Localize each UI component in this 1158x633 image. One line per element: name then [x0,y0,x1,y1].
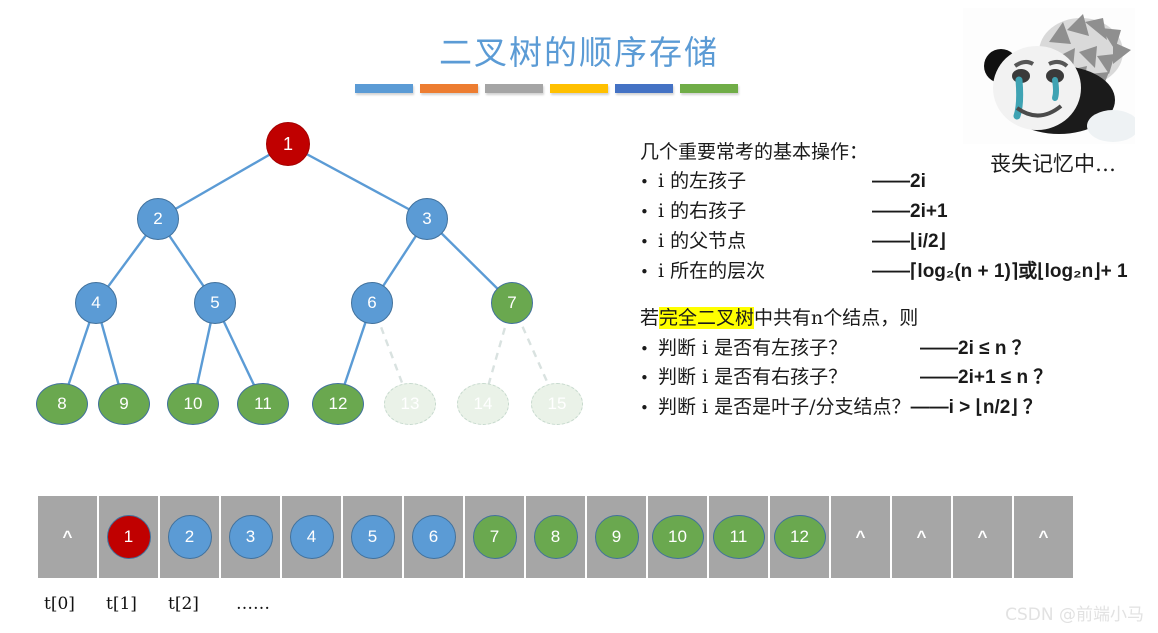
tree-node-10[interactable]: 10 [167,383,219,425]
notes2-heading-highlight: 完全二叉树 [659,307,754,329]
array-cell-5[interactable]: 5 [343,496,402,578]
array-node-circle: 9 [595,515,639,559]
complete-binary-tree-notes: 若完全二叉树中共有n个结点，则 • 判断 i 是否有左孩子？ ——2i ≤ n … [640,304,1156,423]
notes-item-formula: ——2i+1 [872,198,948,227]
bullet-icon: • [640,171,658,194]
meme-caption: 丧失记忆中… [963,148,1143,178]
sequential-storage-array: ^ 1 2 3 4 5 6 7 8 9 10 11 12 ^ ^ ^ ^ [38,496,1073,578]
array-node-circle: 8 [534,515,578,559]
bullet-icon: • [640,367,658,390]
array-cell-9[interactable]: 9 [587,496,646,578]
notes2-item-has-right-child: • 判断 i 是否有右孩子？ ——2i+1 ≤ n ？ [640,363,1156,393]
tree-node-label: 6 [367,293,376,313]
notes2-item-has-left-child: • 判断 i 是否有左孩子？ ——2i ≤ n ？ [640,334,1156,364]
bullet-icon: • [640,201,658,224]
binary-tree-diagram: 1 2 3 4 5 6 7 8 9 10 11 12 13 14 15 [0,0,620,450]
array-node-circle: 1 [107,515,151,559]
tree-node-label: 7 [507,293,516,313]
array-node-circle: 4 [290,515,334,559]
tree-node-label: 14 [474,394,493,414]
tree-node-label: 15 [548,394,567,414]
tree-node-12[interactable]: 12 [312,383,364,425]
bullet-icon: • [640,261,658,284]
tree-node-1[interactable]: 1 [266,122,310,166]
slide-canvas: 二叉树的顺序存储 1 2 [0,0,1158,633]
array-cell-2[interactable]: 2 [160,496,219,578]
array-cell-12[interactable]: 12 [770,496,829,578]
tree-node-label: 3 [422,209,431,229]
notes-item-formula: ——⌊i/2⌋ [872,228,946,257]
notes-item-formula: ——⌈log₂(n + 1)⌉或⌊log₂n⌋+ 1 [872,258,1128,287]
notes2-heading-suffix: 中共有n个结点，则 [754,307,918,329]
notes-bullet-list: • i 的左孩子 ——2i • i 的右孩子 ——2i+1 • i 的父节点 —… [640,167,1150,287]
array-cell-0[interactable]: ^ [38,496,97,578]
notes-item-level: • i 所在的层次 ——⌈log₂(n + 1)⌉或⌊log₂n⌋+ 1 [640,257,1150,287]
array-node-circle: 10 [652,515,704,559]
crying-panda-head-meme-icon [963,8,1135,144]
bullet-icon: • [640,397,658,420]
tree-node-11[interactable]: 11 [237,383,289,425]
notes2-item-formula: ——2i ≤ n ？ [920,334,1031,364]
array-cell-8[interactable]: 8 [526,496,585,578]
tree-node-13[interactable]: 13 [384,383,436,425]
array-cell-7[interactable]: 7 [465,496,524,578]
tree-node-14[interactable]: 14 [457,383,509,425]
title-accent-bar-6 [680,84,738,93]
tree-node-5[interactable]: 5 [194,282,236,324]
notes-item-text: i 的左孩子 [658,167,872,196]
array-cell-15[interactable]: ^ [953,496,1012,578]
array-empty-caret: ^ [856,527,866,547]
tree-node-3[interactable]: 3 [406,198,448,240]
notes2-item-text: 判断 i 是否有右孩子？ [658,363,920,393]
tree-node-label: 8 [57,394,66,414]
array-index-label-2: t[2] [168,594,236,614]
title-accent-bar-5 [615,84,673,93]
array-empty-caret: ^ [1039,527,1049,547]
notes2-heading: 若完全二叉树中共有n个结点，则 [640,304,1156,334]
array-index-label-ellipsis: …… [236,594,270,614]
notes-item-text: i 所在的层次 [658,257,872,286]
notes-item-right-child: • i 的右孩子 ——2i+1 [640,197,1150,227]
notes2-bullet-list: • 判断 i 是否有左孩子？ ——2i ≤ n ？ • 判断 i 是否有右孩子？… [640,334,1156,423]
array-node-circle: 6 [412,515,456,559]
tree-node-15[interactable]: 15 [531,383,583,425]
tree-node-7[interactable]: 7 [491,282,533,324]
tree-node-6[interactable]: 6 [351,282,393,324]
array-cell-16[interactable]: ^ [1014,496,1073,578]
tree-node-8[interactable]: 8 [36,383,88,425]
tree-node-9[interactable]: 9 [98,383,150,425]
array-cell-14[interactable]: ^ [892,496,951,578]
tree-node-label: 13 [401,394,420,414]
tree-node-label: 5 [210,293,219,313]
notes2-item-is-leaf: • 判断 i 是否是叶子/分支结点？ ——i > ⌊n/2⌋ ？ [640,393,1156,423]
tree-node-label: 4 [91,293,100,313]
tree-edges [0,0,620,450]
bullet-icon: • [640,231,658,254]
array-index-labels: t[0] t[1] t[2] …… [44,594,270,614]
notes-item-text: i 的右孩子 [658,197,872,226]
tree-node-2[interactable]: 2 [137,198,179,240]
tree-node-label: 9 [119,394,128,414]
array-cell-13[interactable]: ^ [831,496,890,578]
bullet-icon: • [640,338,658,361]
tree-node-4[interactable]: 4 [75,282,117,324]
array-node-circle: 7 [473,515,517,559]
notes2-item-text: 判断 i 是否是叶子/分支结点？ [658,393,911,423]
tree-node-label: 1 [283,134,293,155]
tree-node-label: 10 [184,394,203,414]
array-cell-6[interactable]: 6 [404,496,463,578]
array-empty-caret: ^ [63,527,73,547]
array-cell-1[interactable]: 1 [99,496,158,578]
array-index-label-1: t[1] [106,594,168,614]
array-node-circle: 2 [168,515,212,559]
array-cell-3[interactable]: 3 [221,496,280,578]
array-empty-caret: ^ [978,527,988,547]
array-cell-10[interactable]: 10 [648,496,707,578]
array-cell-11[interactable]: 11 [709,496,768,578]
array-node-circle: 5 [351,515,395,559]
notes2-item-formula: ——2i+1 ≤ n ？ [920,363,1052,393]
tree-node-label: 12 [329,394,348,414]
array-empty-caret: ^ [917,527,927,547]
notes2-item-text: 判断 i 是否有左孩子？ [658,334,920,364]
tree-node-label: 2 [153,209,162,229]
notes-item-text: i 的父节点 [658,227,872,256]
array-node-circle: 12 [774,515,826,559]
notes2-heading-prefix: 若 [640,307,659,329]
array-node-circle: 11 [713,515,765,559]
array-cell-4[interactable]: 4 [282,496,341,578]
watermark: CSDN @前端小马 [1005,600,1144,625]
tree-node-label: 11 [254,394,272,414]
notes-item-parent: • i 的父节点 ——⌊i/2⌋ [640,227,1150,257]
array-index-label-0: t[0] [44,594,106,614]
notes-item-formula: ——2i [872,168,926,197]
notes2-item-formula: ——i > ⌊n/2⌋ ？ [911,393,1043,423]
array-node-circle: 3 [229,515,273,559]
